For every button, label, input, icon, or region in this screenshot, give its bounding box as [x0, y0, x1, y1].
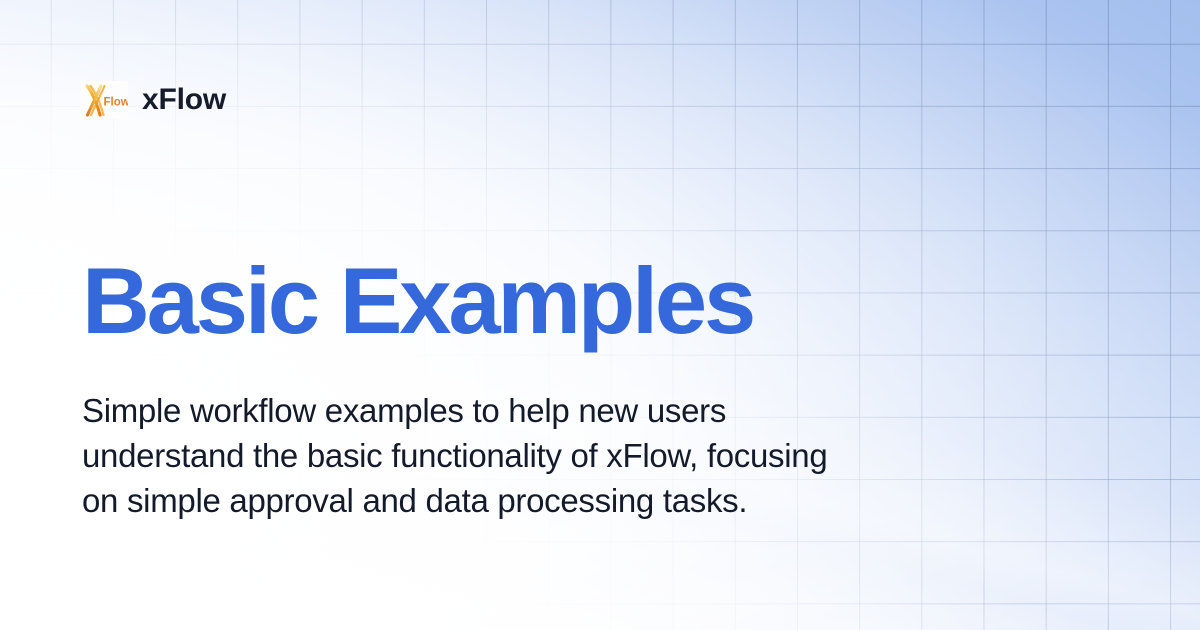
card-content: Flow xFlow Basic Examples Simple workflo…: [0, 0, 1200, 630]
xflow-logo-icon: Flow: [80, 81, 128, 119]
brand-lockup[interactable]: Flow xFlow: [80, 81, 226, 119]
og-card: Flow xFlow Basic Examples Simple workflo…: [0, 0, 1200, 630]
brand-name: xFlow: [142, 85, 226, 115]
svg-text:Flow: Flow: [104, 97, 129, 109]
page-description: Simple workflow examples to help new use…: [82, 388, 872, 523]
page-title: Basic Examples: [82, 254, 753, 348]
